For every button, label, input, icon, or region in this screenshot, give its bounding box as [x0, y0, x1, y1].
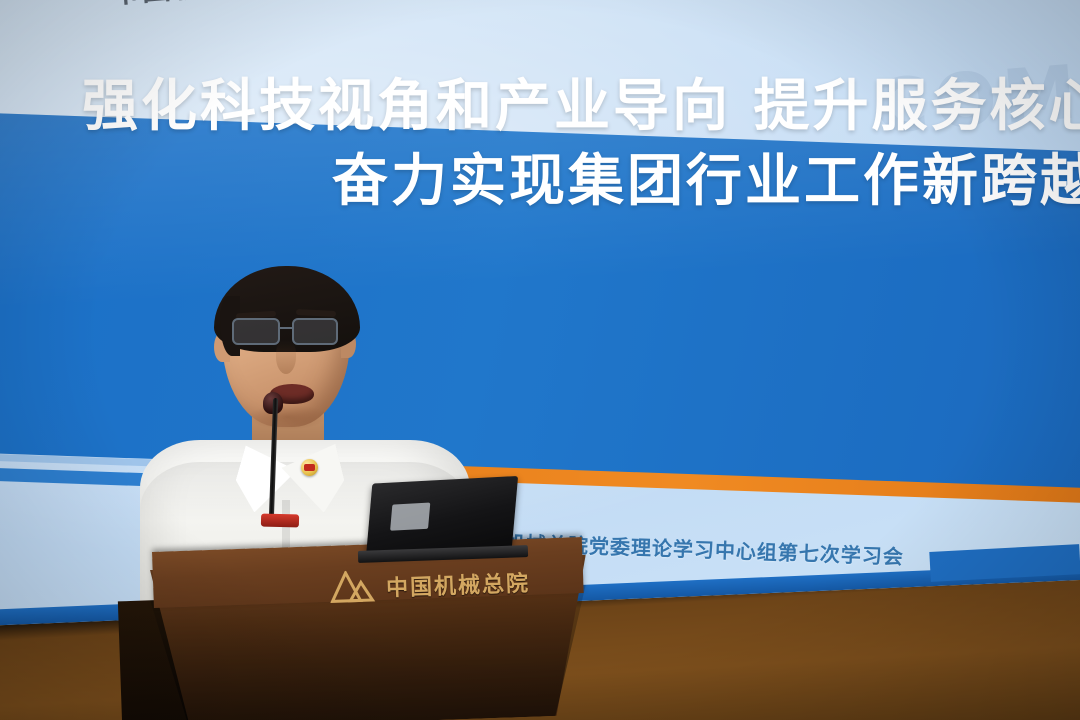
slide-title-line1: 强化科技视角和产业导向 提升服务核心竞争力	[82, 78, 1080, 137]
laptop-icon	[366, 476, 518, 556]
slide-title-line2: 奋力实现集团行业工作新跨越	[332, 153, 1080, 212]
party-emblem-pin-icon	[301, 459, 318, 476]
podium-brand-text: 中国机械总院	[385, 566, 530, 603]
laptop-sticker	[390, 503, 430, 531]
glasses-lens-right	[292, 318, 338, 345]
cam-triangle-logo-icon	[329, 570, 376, 606]
slide-header: 中国机械科学研究总院集团 China Academy of Machinery …	[109, 0, 531, 12]
slide-header-cn: 中国机械科学研究总院集团	[109, 0, 483, 10]
speaker-chin-shadow	[248, 404, 328, 430]
presentation-photo: COMA 中国机械科学研究总院集团 China Academy of Machi…	[0, 0, 1080, 720]
glasses-lens-left	[232, 318, 280, 345]
microphone-base	[261, 514, 299, 528]
slide-title-block: 强化科技视角和产业导向 提升服务核心竞争力 奋力实现集团行业工作新跨越	[82, 78, 1080, 212]
podium-branding: 中国机械总院	[329, 565, 530, 606]
speaker-nose	[276, 340, 296, 374]
